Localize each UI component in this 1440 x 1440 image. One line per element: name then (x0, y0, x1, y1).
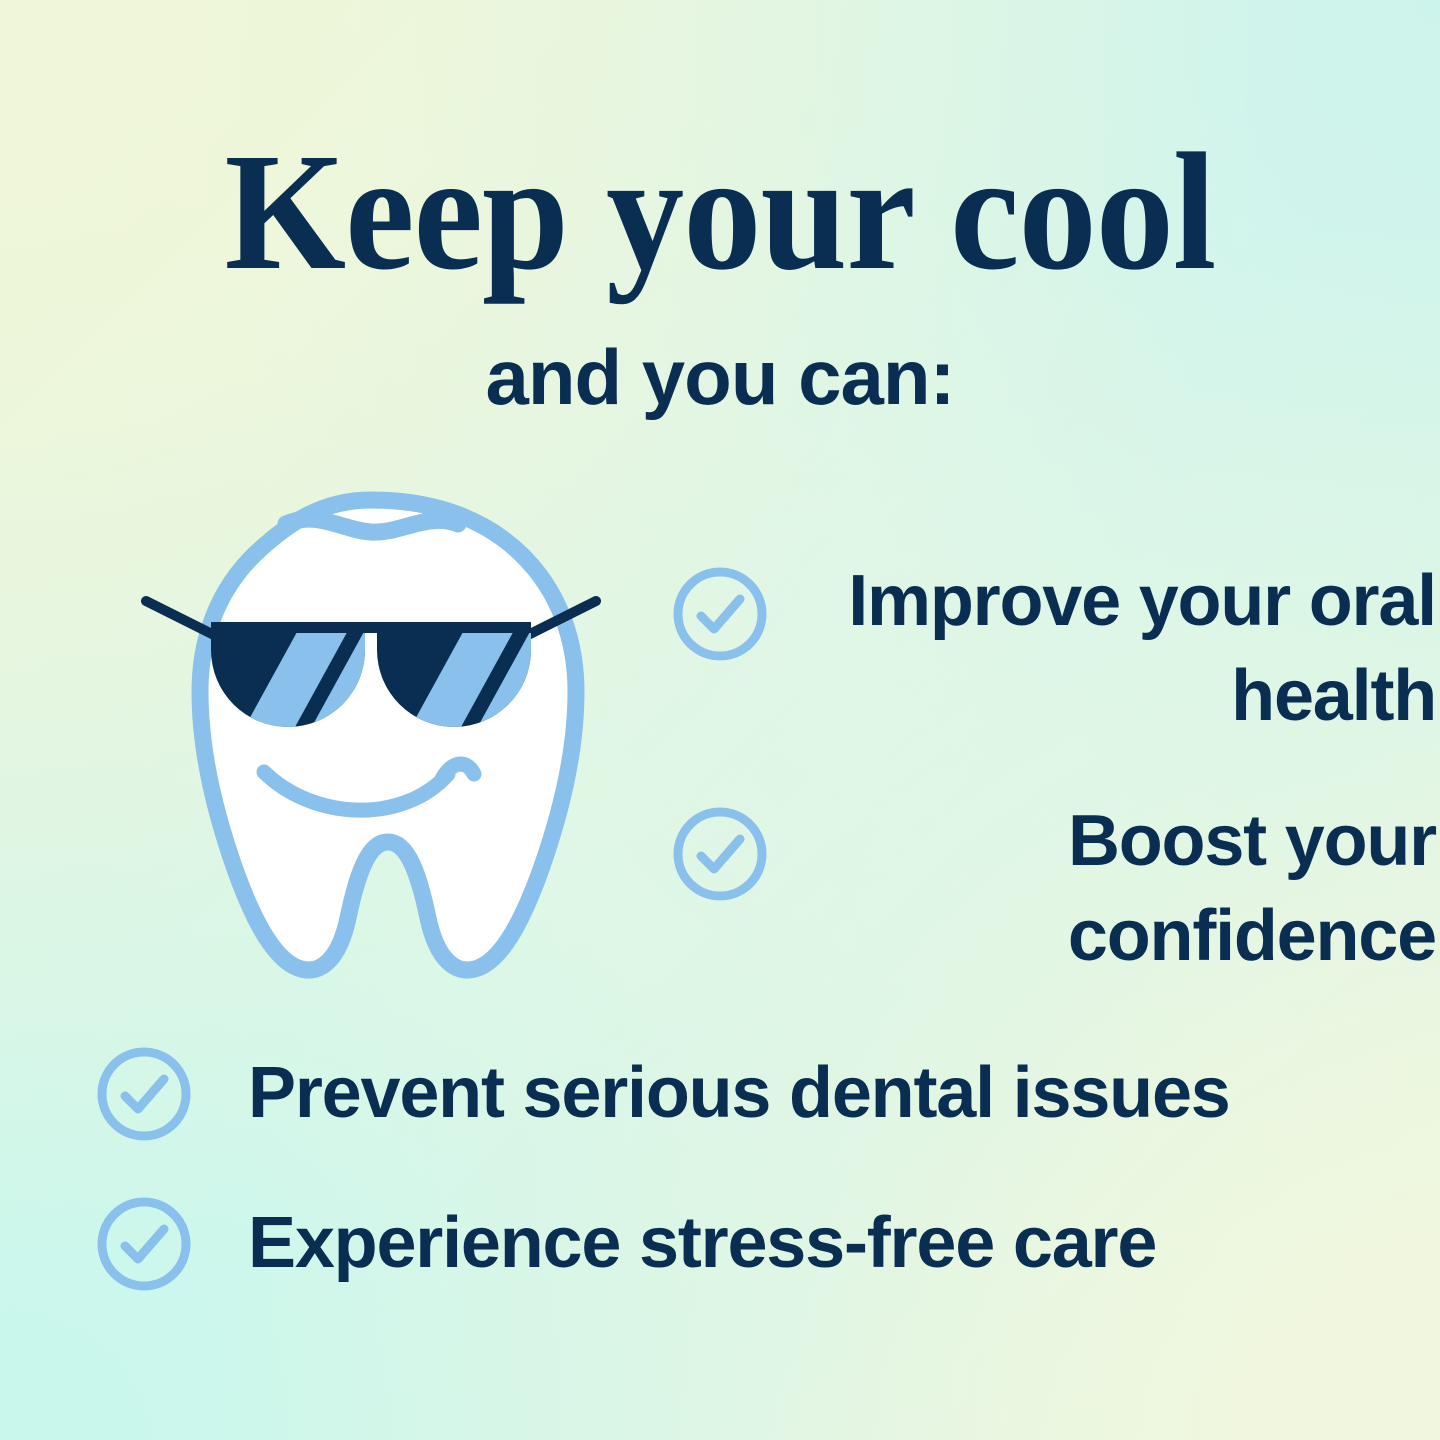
poster-canvas: Keep your cool and you can: (0, 0, 1440, 1440)
benefit-label: Boost your confidence (824, 794, 1436, 984)
check-circle-icon (672, 806, 768, 902)
tooth-body (200, 500, 576, 970)
benefit-item-stress-free-care: Experience stress-free care (96, 1196, 1156, 1292)
page-subtitle: and you can: (0, 338, 1440, 416)
benefit-label: Experience stress-free care (248, 1204, 1156, 1283)
benefit-item-prevent-dental-issues: Prevent serious dental issues (96, 1046, 1230, 1142)
benefit-item-boost-confidence: Boost your confidence (672, 806, 1436, 984)
benefit-label: Improve your oral health (824, 554, 1436, 744)
check-circle-icon (96, 1046, 192, 1142)
benefit-label: Prevent serious dental issues (248, 1054, 1230, 1133)
check-circle-icon (96, 1196, 192, 1292)
cool-tooth-mascot (136, 486, 606, 986)
check-circle-icon (672, 566, 768, 662)
page-title: Keep your cool (50, 128, 1389, 296)
benefit-item-improve-oral-health: Improve your oral health (672, 566, 1436, 744)
